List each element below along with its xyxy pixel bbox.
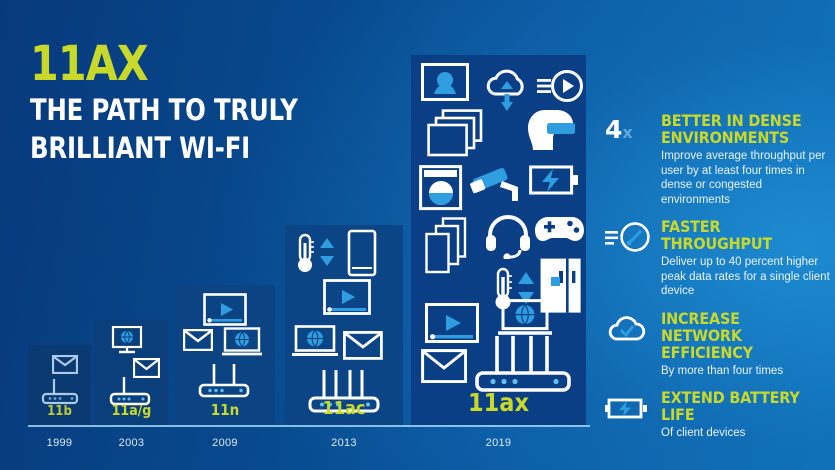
benefit-battery-life: EXTEND BATTERY LIFE Of client devices <box>605 389 830 441</box>
year-label-2009: 2009 <box>175 437 275 449</box>
envelope-icon <box>421 349 467 383</box>
game-controller-icon <box>535 211 585 245</box>
benefit-heading-line1: FASTER THROUGHPUT <box>661 218 813 252</box>
up-down-arrows-icon <box>319 237 335 267</box>
vr-headset-icon <box>523 107 577 153</box>
timeline-column-11n: 11n <box>175 285 275 425</box>
chart-axis-line <box>28 425 590 427</box>
year-label-2003: 2003 <box>95 437 168 449</box>
standard-label-11ax: 11ax <box>420 388 578 417</box>
envelope-icon <box>183 329 213 351</box>
infographic-canvas: 11AX THE PATH TO TRULY BRILLIANT WI-FI 1… <box>0 0 835 470</box>
benefit-heading-line1: EXTEND BATTERY LIFE <box>661 389 813 423</box>
video-player-icon <box>425 303 479 343</box>
router-1-antenna-icon <box>40 377 80 407</box>
timeline-column-11ax: 11ax <box>411 55 586 425</box>
timeline-column-11ag: 11a/g <box>95 320 168 425</box>
video-player-icon <box>203 293 247 326</box>
benefit-body: By more than four times <box>661 364 830 379</box>
benefit-heading-line1: INCREASE NETWORK <box>661 310 813 344</box>
desktop-globe-icon <box>110 326 144 355</box>
timeline-chart: 11b 1999 11a/g 2003 <box>0 0 600 470</box>
benefits-list: 4x BETTER IN DENSE ENVIRONMENTS Improve … <box>605 112 830 452</box>
benefit-faster-throughput: FASTER THROUGHPUT Deliver up to 40 perce… <box>605 218 830 299</box>
photo-frame-icon <box>421 63 469 101</box>
security-camera-icon <box>469 167 525 207</box>
headset-icon <box>485 215 531 259</box>
stacked-phones-icon <box>425 217 475 275</box>
benefit-dense-environments: 4x BETTER IN DENSE ENVIRONMENTS Improve … <box>605 112 830 207</box>
battery-bolt-icon <box>529 163 579 197</box>
laptop-globe-icon <box>291 325 339 359</box>
thermostat-icon <box>293 233 317 275</box>
benefit-network-efficiency: INCREASE NETWORK EFFICIENCY By more than… <box>605 310 830 379</box>
year-label-2013: 2013 <box>285 437 403 449</box>
benefit-body: Deliver up to 40 percent higher peak dat… <box>661 255 830 299</box>
timeline-column-11ac: 11ac <box>285 225 403 425</box>
laptop-globe-icon <box>221 327 263 358</box>
smartphone-icon <box>347 229 377 277</box>
router-4-antenna-icon <box>473 333 573 395</box>
battery-bolt-icon <box>605 391 655 425</box>
benefit-heading-line2: EFFICIENCY <box>661 344 813 361</box>
benefit-body: Of client devices <box>661 426 830 441</box>
benefit-heading-line2: ENVIRONMENTS <box>661 129 813 146</box>
cloud-check-icon <box>605 312 655 346</box>
stacked-windows-icon <box>427 109 483 157</box>
standard-label-11b: 11b <box>31 404 88 419</box>
benefit-body: Improve average throughput per user by a… <box>661 149 830 207</box>
media-stream-icon <box>535 69 583 103</box>
four-times-icon: 4x <box>605 114 655 148</box>
year-label-2019: 2019 <box>411 437 586 449</box>
router-2-antenna-icon <box>197 361 251 399</box>
year-label-1999: 1999 <box>28 437 91 449</box>
standard-label-11n: 11n <box>180 401 270 419</box>
envelope-icon <box>343 331 383 360</box>
standard-label-11ac: 11ac <box>291 398 397 419</box>
benefit-badge-number: 4 <box>605 115 622 144</box>
benefit-badge-suffix: x <box>622 123 632 142</box>
benefit-heading-line1: BETTER IN DENSE <box>661 112 813 129</box>
washing-machine-icon <box>419 165 463 211</box>
envelope-icon <box>52 355 78 374</box>
video-player-icon <box>323 279 371 315</box>
timeline-column-11b: 11b <box>28 345 91 425</box>
standard-label-11ag: 11a/g <box>99 403 165 419</box>
speed-gauge-icon <box>605 220 655 254</box>
